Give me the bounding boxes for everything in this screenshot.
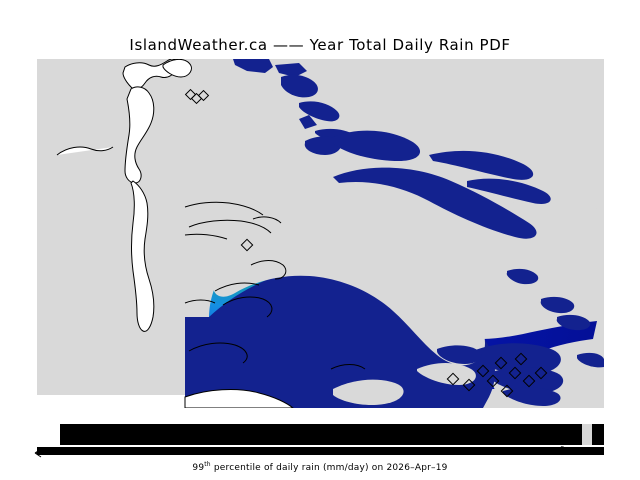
coastline-svg — [37, 59, 604, 408]
colorbar-track[interactable] — [60, 424, 604, 445]
offshore-coastline-outline — [57, 59, 191, 331]
caption-text: percentile of daily rain (mm/day) on — [211, 463, 387, 473]
coastline-overlay — [37, 59, 604, 408]
caption-percentile: 99 — [192, 463, 204, 473]
page-title: IslandWeather.ca —— Year Total Daily Rai… — [0, 36, 640, 54]
map-panel[interactable] — [37, 59, 604, 408]
caption-date: 2026–Apr–19 — [386, 463, 447, 473]
colorbar-tick-strip — [37, 447, 604, 455]
colorbar-endcap — [582, 424, 592, 445]
panel-bottom-white-strip — [37, 395, 185, 408]
colorbar-min-label: 0 — [560, 445, 564, 453]
colorbar[interactable] — [37, 424, 604, 445]
caption: 99th percentile of daily rain (mm/day) o… — [0, 461, 640, 473]
left-arrow-icon — [34, 443, 60, 455]
